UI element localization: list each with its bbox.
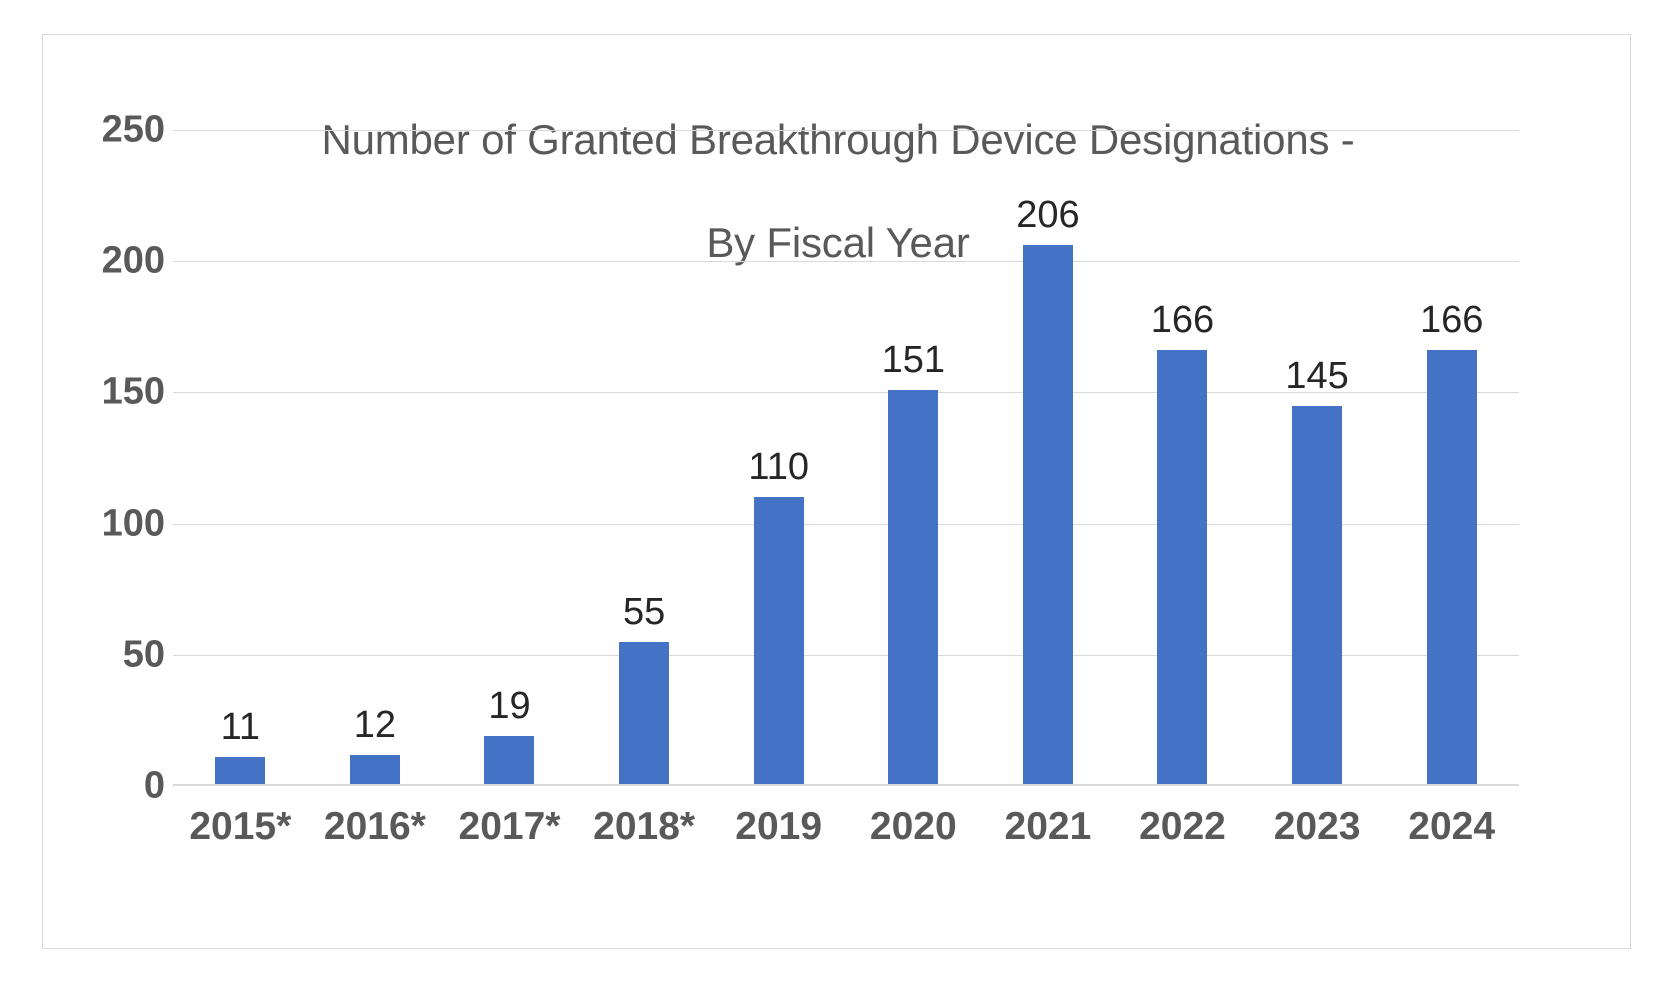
- bar-slot: 55: [577, 130, 712, 786]
- x-axis-tick-label: 2015*: [189, 805, 291, 849]
- x-axis-tick-label: 2018*: [593, 805, 695, 849]
- x-axis: 2015*2016*2017*2018*20192020202120222023…: [173, 805, 1519, 875]
- y-axis-tick-label: 150: [45, 371, 165, 414]
- bar-value-label: 206: [1016, 194, 1079, 237]
- bar-value-label: 12: [354, 704, 396, 747]
- bar-slot: 166: [1384, 130, 1519, 786]
- bar-value-label: 145: [1285, 355, 1348, 398]
- chart-container: Number of Granted Breakthrough Device De…: [42, 34, 1631, 949]
- y-axis-tick-label: 100: [45, 502, 165, 545]
- x-axis-tick-label: 2024: [1408, 805, 1495, 849]
- bar[interactable]: [1427, 350, 1477, 786]
- bar-value-label: 19: [488, 685, 530, 728]
- bar[interactable]: [350, 755, 400, 786]
- bar[interactable]: [484, 736, 534, 786]
- plot-area: 11121955110151206166145166: [173, 130, 1519, 786]
- y-axis-tick-label: 50: [45, 633, 165, 676]
- x-axis-tick-label: 2023: [1274, 805, 1361, 849]
- bar-slot: 151: [846, 130, 981, 786]
- bar[interactable]: [1157, 350, 1207, 786]
- bar-slot: 12: [308, 130, 443, 786]
- bar-value-label: 55: [623, 591, 665, 634]
- bar[interactable]: [215, 757, 265, 786]
- bar-slot: 206: [981, 130, 1116, 786]
- x-axis-tick-label: 2020: [870, 805, 957, 849]
- y-axis-tick-label: 250: [45, 109, 165, 152]
- bar[interactable]: [888, 390, 938, 786]
- x-axis-tick-label: 2016*: [324, 805, 426, 849]
- bar-slot: 166: [1115, 130, 1250, 786]
- bar-slot: 110: [711, 130, 846, 786]
- x-axis-tick-label: 2017*: [459, 805, 561, 849]
- x-axis-line: [173, 784, 1519, 786]
- bar-value-label: 11: [221, 706, 260, 749]
- y-axis: 050100150200250: [43, 130, 165, 786]
- bar-value-label: 166: [1420, 299, 1483, 342]
- x-axis-tick-label: 2021: [1005, 805, 1092, 849]
- y-axis-tick-label: 0: [45, 765, 165, 808]
- bar[interactable]: [1023, 245, 1073, 786]
- bar-value-label: 110: [748, 446, 809, 489]
- bar-slot: 145: [1250, 130, 1385, 786]
- bar-slot: 19: [442, 130, 577, 786]
- bar-value-label: 166: [1151, 299, 1214, 342]
- bar[interactable]: [1292, 406, 1342, 786]
- bar[interactable]: [619, 642, 669, 786]
- x-axis-tick-label: 2019: [735, 805, 822, 849]
- bar-value-label: 151: [882, 339, 945, 382]
- y-axis-tick-label: 200: [45, 240, 165, 283]
- bar[interactable]: [754, 497, 804, 786]
- x-axis-tick-label: 2022: [1139, 805, 1226, 849]
- bar-slot: 11: [173, 130, 308, 786]
